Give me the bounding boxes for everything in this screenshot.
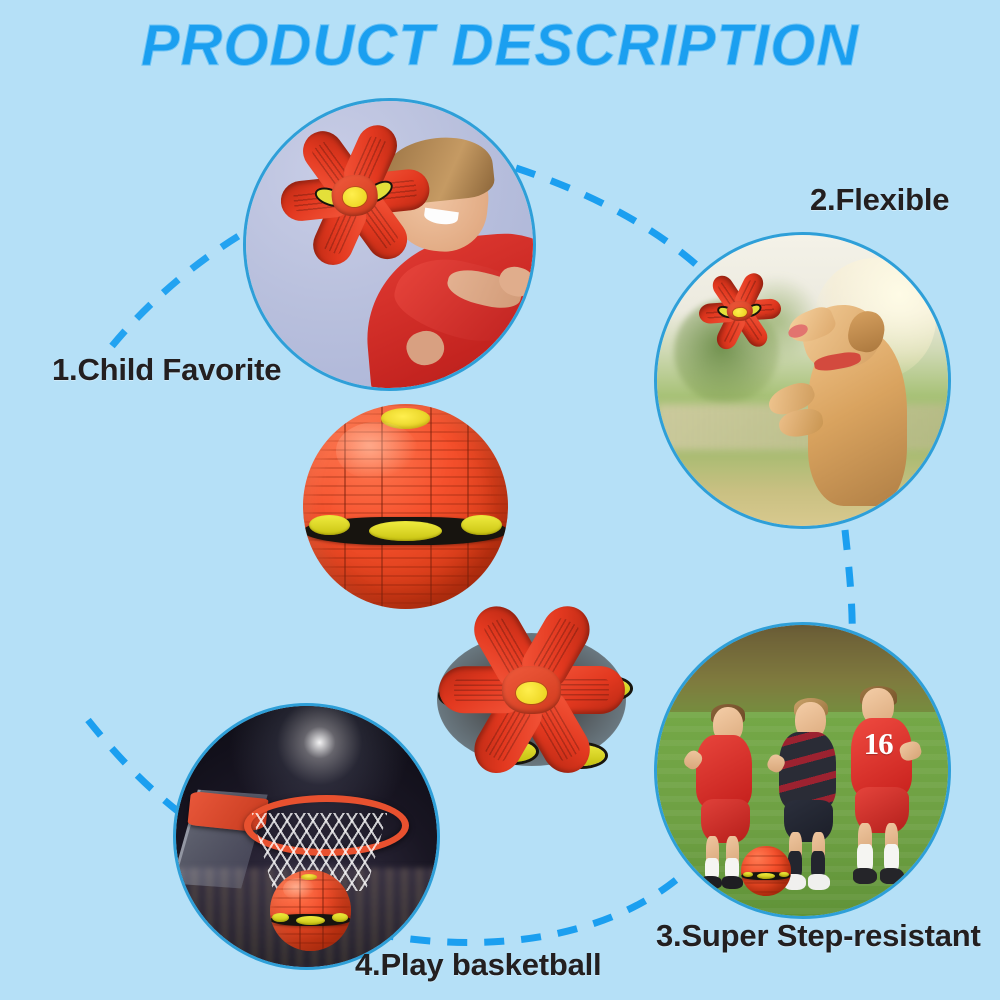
product-ball-sphere xyxy=(303,404,508,609)
soccer-kid-right: 16 xyxy=(837,686,924,884)
feature-photo-child-favorite[interactable] xyxy=(243,98,536,391)
disc-ball-flat-icon xyxy=(262,115,449,281)
feature-label-3: 3.Super Step-resistant xyxy=(656,918,981,954)
arc-label1-to-circle1 xyxy=(112,228,252,346)
feature-label-2: 2.Flexible xyxy=(810,182,949,218)
disc-ball-sphere-icon xyxy=(741,846,790,895)
product-ball-flat xyxy=(424,608,639,783)
kids-soccer-photo: 16 xyxy=(657,625,948,916)
disc-ball-flat-icon xyxy=(689,272,790,354)
disc-ball-sphere-icon xyxy=(270,870,351,951)
jersey-number: 16 xyxy=(864,726,893,762)
infographic-canvas: PRODUCT DESCRIPTION xyxy=(0,0,1000,1000)
feature-photo-play-basketball[interactable] xyxy=(173,703,440,970)
feature-label-4: 4.Play basketball xyxy=(355,947,601,983)
arc-circle4-to-left xyxy=(88,720,184,816)
basketball-hoop-photo xyxy=(176,706,437,967)
boy-throwing-disc-photo xyxy=(246,101,533,388)
dog-catching-disc-photo xyxy=(657,235,948,526)
feature-photo-flexible[interactable] xyxy=(654,232,951,529)
feature-photo-step-resistant[interactable]: 16 xyxy=(654,622,951,919)
feature-label-1: 1.Child Favorite xyxy=(52,352,281,388)
